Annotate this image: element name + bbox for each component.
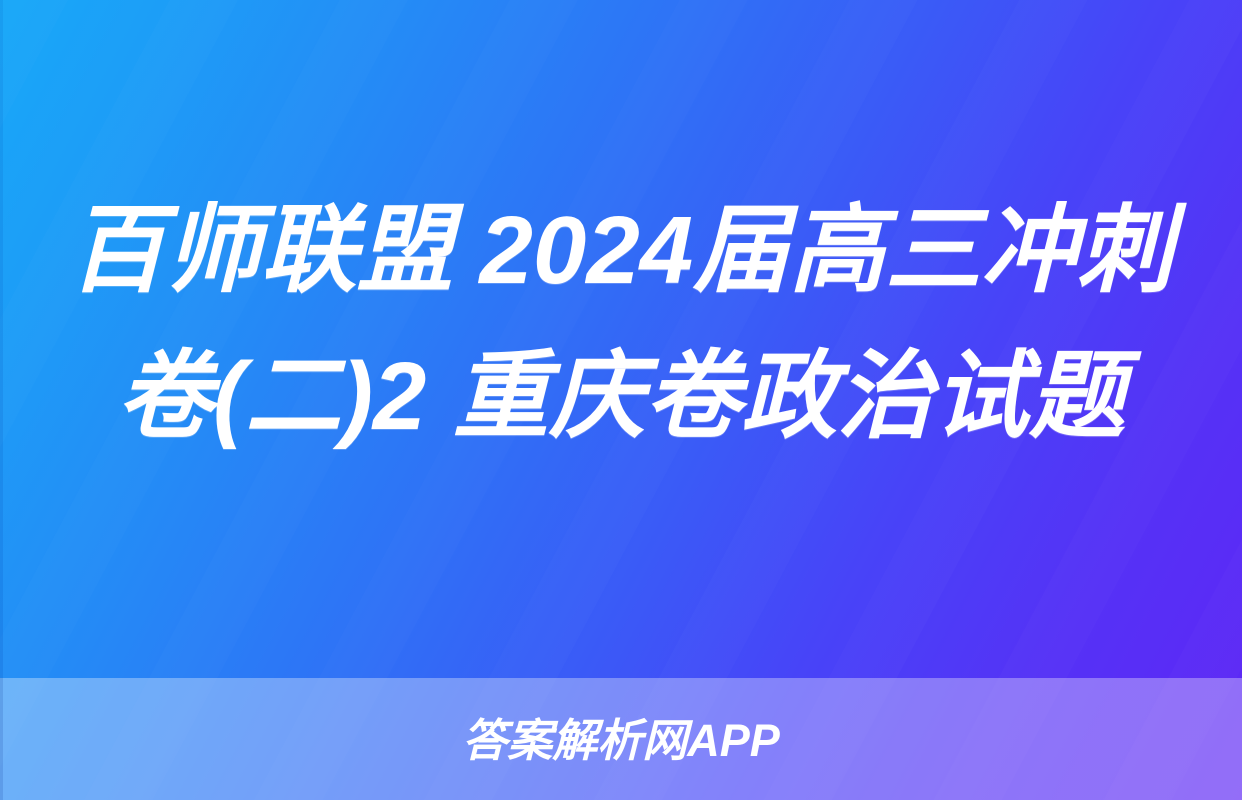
poster-canvas: 百师联盟 2024届高三冲刺卷(二)2 重庆卷政治试题 答案解析网APP bbox=[0, 0, 1242, 800]
watermark-brand-label: 答案解析网APP bbox=[462, 718, 780, 763]
poster-title-block: 百师联盟 2024届高三冲刺卷(二)2 重庆卷政治试题 bbox=[0, 178, 1242, 470]
watermark-container: 答案解析网APP bbox=[0, 700, 1242, 780]
page-title: 百师联盟 2024届高三冲刺卷(二)2 重庆卷政治试题 bbox=[34, 178, 1208, 470]
